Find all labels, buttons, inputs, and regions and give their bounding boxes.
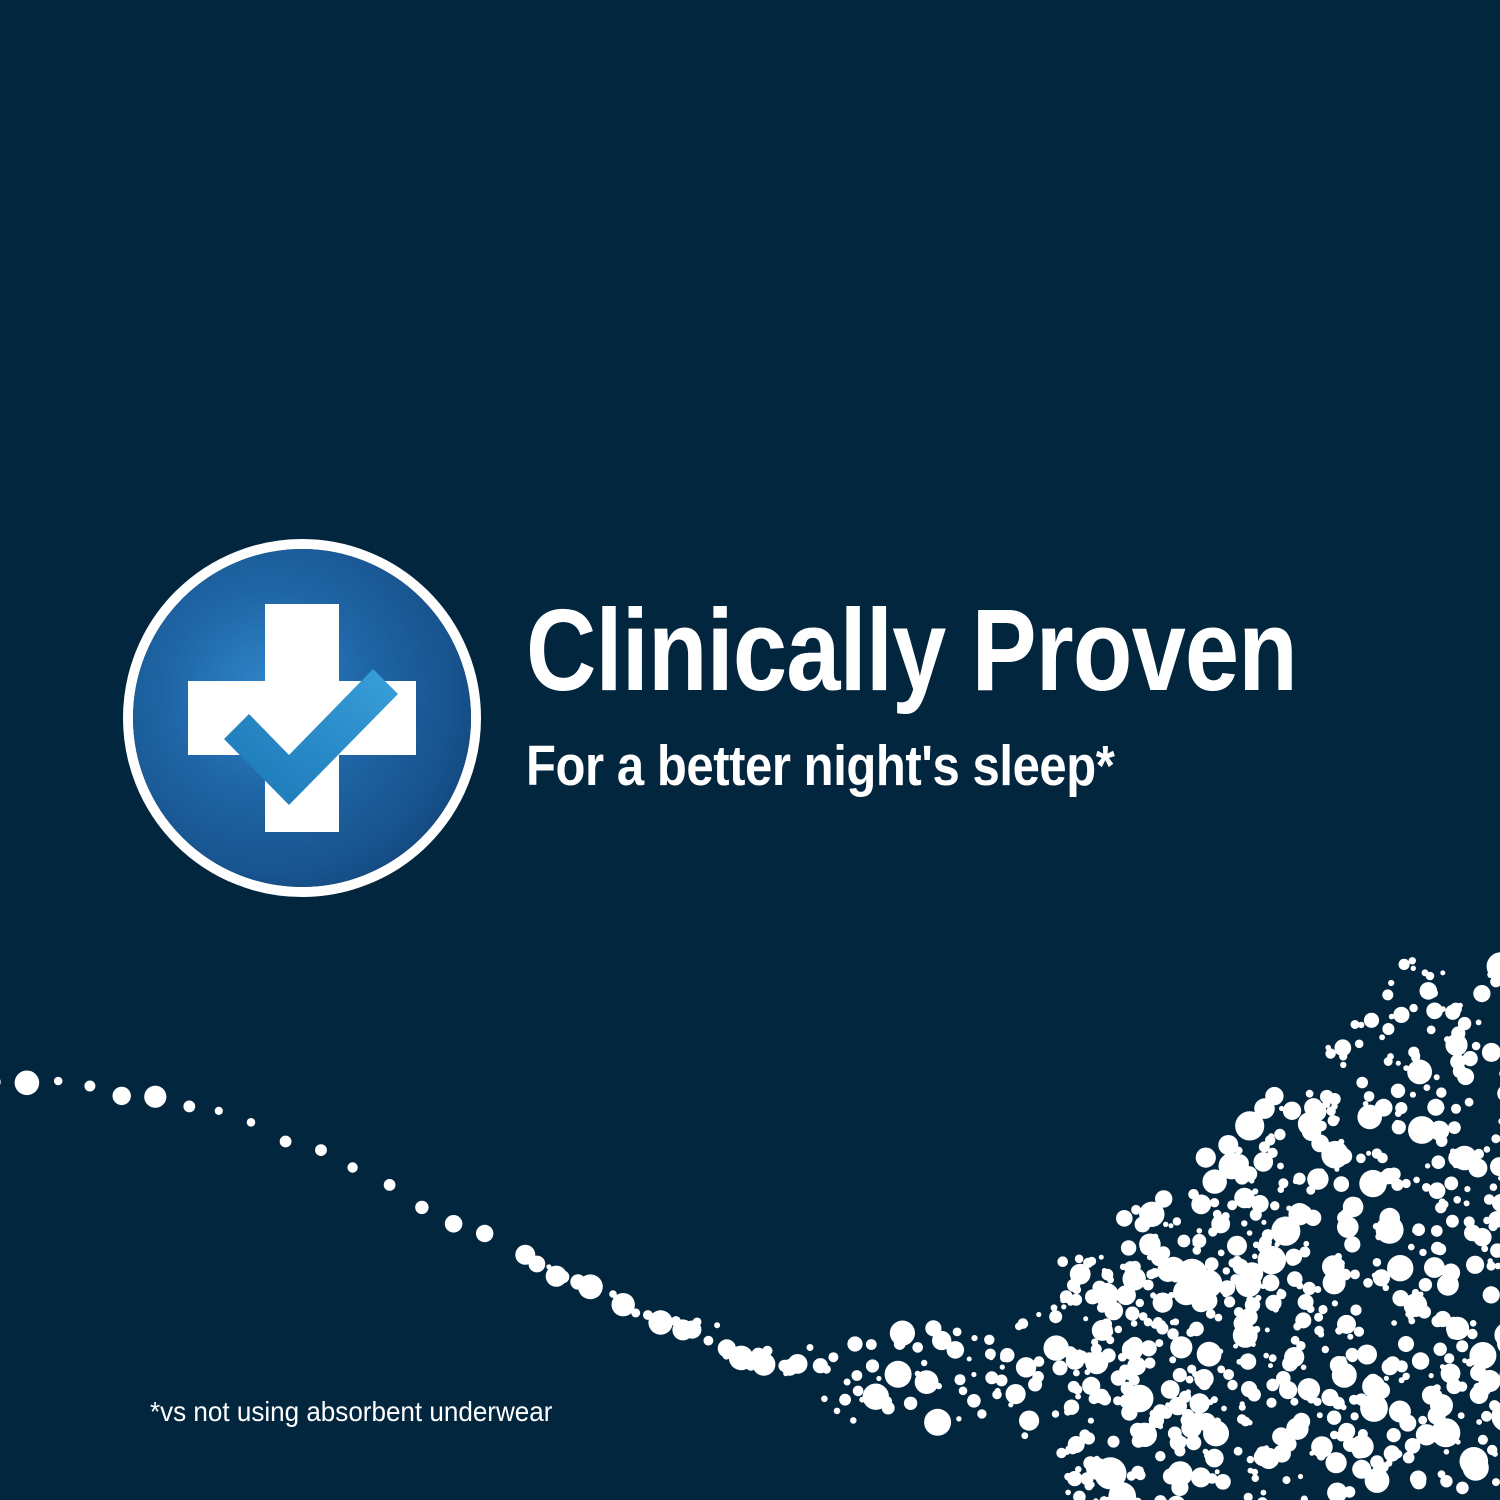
clinically-proven-badge [122,529,482,907]
page-subtitle: For a better night's sleep* [526,708,1300,795]
footnote-disclaimer: *vs not using absorbent underwear [150,1395,552,1429]
headline-block: Clinically Proven For a better night's s… [526,592,1426,795]
page-title: Clinically Proven [526,592,1282,708]
medical-cross-check-badge-icon [122,529,482,907]
promo-banner: Clinically Proven For a better night's s… [0,0,1500,1500]
